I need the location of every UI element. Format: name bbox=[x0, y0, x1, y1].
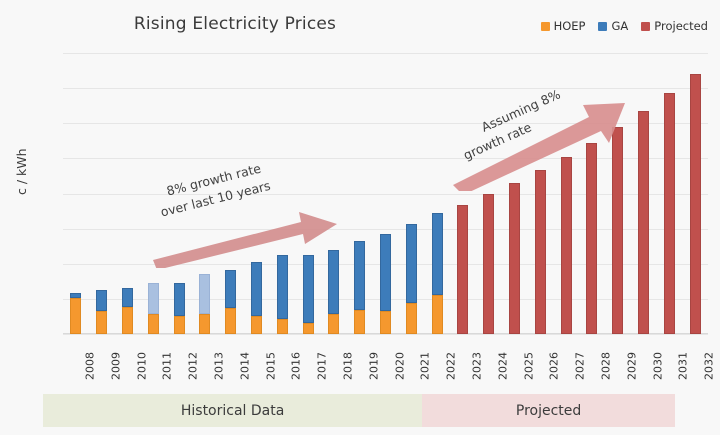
bar-segment bbox=[174, 283, 185, 315]
x-axis-tick-label: 2011 bbox=[161, 352, 174, 380]
x-axis-tick-label: 2017 bbox=[316, 352, 329, 380]
bar-segment bbox=[199, 274, 210, 313]
bar-segment bbox=[354, 310, 365, 334]
x-axis-tick-label: 2020 bbox=[393, 352, 406, 380]
chart-legend: HOEP GA Projected bbox=[541, 19, 708, 33]
bar-segment bbox=[96, 290, 107, 311]
y-axis-label: c / kWh bbox=[14, 148, 29, 195]
x-axis-tick-label: 2021 bbox=[419, 352, 432, 380]
bar-column[interactable] bbox=[251, 262, 262, 334]
legend-swatch-hoep bbox=[541, 22, 550, 31]
bar-column[interactable] bbox=[509, 183, 520, 334]
x-axis-tick-label: 2028 bbox=[599, 352, 612, 380]
band-historical-data-label: Historical Data bbox=[181, 403, 284, 419]
bar-segment bbox=[277, 319, 288, 334]
bar-segment bbox=[638, 111, 649, 334]
bar-segment bbox=[406, 224, 417, 303]
band-historical-data: Historical Data bbox=[43, 394, 422, 427]
legend-label-projected: Projected bbox=[654, 19, 708, 33]
x-axis-tick-label: 2009 bbox=[109, 352, 122, 380]
gridline bbox=[63, 334, 708, 335]
period-bands: Historical Data Projected bbox=[43, 394, 675, 427]
bar-column[interactable] bbox=[664, 93, 675, 334]
bar-segment bbox=[174, 316, 185, 334]
bar-column[interactable] bbox=[457, 205, 468, 334]
bar-column[interactable] bbox=[96, 290, 107, 334]
x-axis-tick-label: 2019 bbox=[367, 352, 380, 380]
bar-column[interactable] bbox=[199, 274, 210, 334]
x-axis-tick-label: 2023 bbox=[470, 352, 483, 380]
bar-column[interactable] bbox=[432, 213, 443, 334]
bar-segment bbox=[664, 93, 675, 334]
x-axis-ticks: 2008200920102011201220132014201520162017… bbox=[63, 338, 708, 388]
bar-column[interactable] bbox=[354, 241, 365, 334]
plot-area: 8% growth rate over last 10 years Assumi… bbox=[63, 53, 708, 334]
bar-segment bbox=[380, 311, 391, 334]
bar-segment bbox=[483, 194, 494, 334]
x-axis-tick-label: 2027 bbox=[574, 352, 587, 380]
bar-segment bbox=[690, 74, 701, 334]
x-axis-tick-label: 2030 bbox=[651, 352, 664, 380]
bar-segment bbox=[96, 311, 107, 334]
legend-item-projected[interactable]: Projected bbox=[641, 19, 708, 33]
bar-segment bbox=[122, 288, 133, 306]
bar-segment bbox=[380, 234, 391, 311]
legend-swatch-projected bbox=[641, 22, 650, 31]
bar-segment bbox=[199, 314, 210, 334]
bar-segment bbox=[122, 307, 133, 334]
projected-growth-annotation: Assuming 8% growth rate bbox=[449, 81, 629, 191]
bar-column[interactable] bbox=[380, 234, 391, 334]
legend-item-ga[interactable]: GA bbox=[598, 19, 628, 33]
band-projected: Projected bbox=[422, 394, 675, 427]
bar-segment bbox=[535, 170, 546, 334]
x-axis-tick-label: 2025 bbox=[522, 352, 535, 380]
bar-segment bbox=[303, 323, 314, 334]
bar-segment bbox=[354, 241, 365, 311]
x-axis-tick-label: 2008 bbox=[83, 352, 96, 380]
x-axis-tick-label: 2014 bbox=[238, 352, 251, 380]
x-axis-tick-label: 2013 bbox=[212, 352, 225, 380]
historical-growth-annotation: 8% growth rate over last 10 years bbox=[151, 198, 341, 268]
bar-segment bbox=[509, 183, 520, 334]
bar-column[interactable] bbox=[148, 283, 159, 334]
bar-column[interactable] bbox=[174, 283, 185, 334]
bar-column[interactable] bbox=[535, 170, 546, 334]
bar-segment bbox=[457, 205, 468, 334]
bar-segment bbox=[251, 316, 262, 334]
bar-column[interactable] bbox=[483, 194, 494, 334]
bar-segment bbox=[251, 262, 262, 315]
bar-column[interactable] bbox=[70, 293, 81, 334]
x-axis-tick-label: 2026 bbox=[548, 352, 561, 380]
legend-swatch-ga bbox=[598, 22, 607, 31]
chart-root: Rising Electricity Prices HOEP GA Projec… bbox=[0, 0, 720, 435]
x-axis-tick-label: 2012 bbox=[187, 352, 200, 380]
x-axis-tick-label: 2018 bbox=[341, 352, 354, 380]
page-title: Rising Electricity Prices bbox=[0, 14, 470, 34]
x-axis-tick-label: 2024 bbox=[496, 352, 509, 380]
x-axis-tick-label: 2029 bbox=[625, 352, 638, 380]
bar-segment bbox=[148, 283, 159, 313]
band-projected-label: Projected bbox=[516, 403, 581, 419]
legend-label-ga: GA bbox=[611, 19, 628, 33]
bar-column[interactable] bbox=[225, 270, 236, 334]
x-axis-tick-label: 2015 bbox=[264, 352, 277, 380]
bar-segment bbox=[432, 295, 443, 334]
bar-segment bbox=[148, 314, 159, 334]
bar-segment bbox=[70, 298, 81, 334]
bar-column[interactable] bbox=[690, 74, 701, 334]
x-axis-tick-label: 2032 bbox=[703, 352, 716, 380]
bar-segment bbox=[225, 270, 236, 308]
bar-segment bbox=[328, 314, 339, 334]
bar-column[interactable] bbox=[638, 111, 649, 334]
bar-segment bbox=[225, 308, 236, 334]
x-axis-tick-label: 2010 bbox=[135, 352, 148, 380]
bar-segment bbox=[406, 303, 417, 334]
legend-item-hoep[interactable]: HOEP bbox=[541, 19, 586, 33]
bar-column[interactable] bbox=[122, 288, 133, 334]
x-axis-tick-label: 2031 bbox=[677, 352, 690, 380]
bar-segment bbox=[432, 213, 443, 294]
x-axis-tick-label: 2022 bbox=[445, 352, 458, 380]
bar-column[interactable] bbox=[406, 224, 417, 334]
x-axis-tick-label: 2016 bbox=[290, 352, 303, 380]
legend-label-hoep: HOEP bbox=[554, 19, 586, 33]
